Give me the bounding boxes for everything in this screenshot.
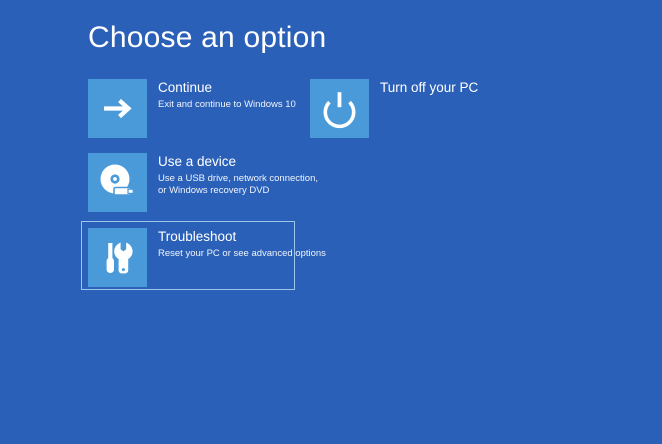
option-continue-subtitle-line1: Exit and continue to Windows 10: [158, 99, 296, 111]
option-continue-subtitle: Exit and continue to Windows 10: [158, 99, 296, 111]
option-troubleshoot-subtitle: Reset your PC or see advanced options: [158, 248, 326, 260]
recovery-screen: Choose an option Continue Exit and conti…: [0, 0, 662, 444]
option-use-a-device-tile: [88, 153, 147, 212]
option-turn-off-your-pc-tile: [310, 79, 369, 138]
option-continue-tile: [88, 79, 147, 138]
option-continue[interactable]: Continue Exit and continue to Windows 10: [81, 72, 295, 145]
option-use-a-device-heading: Use a device: [158, 154, 318, 170]
option-use-a-device-text: Use a device Use a USB drive, network co…: [158, 153, 318, 197]
option-troubleshoot-tile: [88, 228, 147, 287]
option-use-a-device-subtitle: Use a USB drive, network connection, or …: [158, 173, 318, 197]
option-continue-heading: Continue: [158, 80, 296, 96]
option-continue-text: Continue Exit and continue to Windows 10: [158, 79, 296, 111]
option-turn-off-your-pc[interactable]: Turn off your PC: [303, 72, 517, 145]
option-troubleshoot-text: Troubleshoot Reset your PC or see advanc…: [158, 228, 326, 260]
option-troubleshoot[interactable]: Troubleshoot Reset your PC or see advanc…: [81, 221, 295, 290]
option-troubleshoot-subtitle-line1: Reset your PC or see advanced options: [158, 248, 326, 260]
option-use-a-device[interactable]: Use a device Use a USB drive, network co…: [81, 146, 295, 219]
option-turn-off-your-pc-heading: Turn off your PC: [380, 80, 478, 96]
option-turn-off-your-pc-text: Turn off your PC: [380, 79, 478, 96]
option-troubleshoot-heading: Troubleshoot: [158, 229, 326, 245]
options-list: Continue Exit and continue to Windows 10: [0, 0, 662, 444]
option-use-a-device-subtitle-line2: or Windows recovery DVD: [158, 185, 318, 197]
option-use-a-device-subtitle-line1: Use a USB drive, network connection,: [158, 173, 318, 185]
